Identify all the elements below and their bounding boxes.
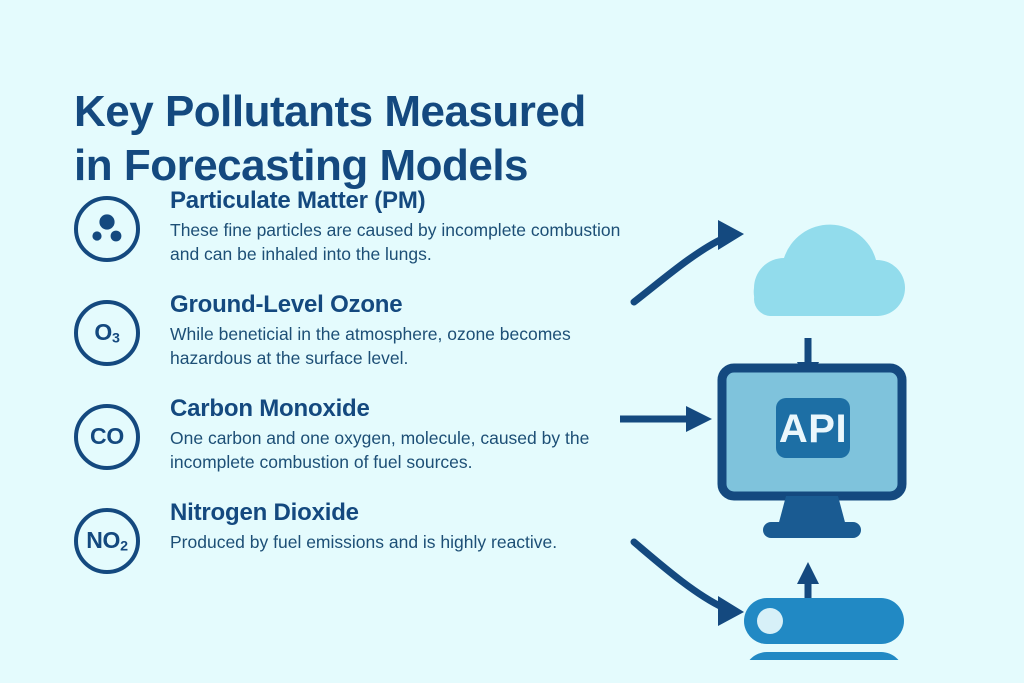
- curved-arrow-to-server: [634, 542, 744, 626]
- carbon-monoxide-formula-icon: CO: [74, 404, 140, 470]
- pollutant-title: Nitrogen Dioxide: [170, 500, 644, 526]
- pollutant-title: Carbon Monoxide: [170, 396, 644, 422]
- pollutant-description: These fine particles are caused by incom…: [170, 219, 640, 266]
- pollutant-list: Particulate Matter (PM) These fine parti…: [74, 188, 644, 586]
- particulate-dots-icon: [74, 196, 140, 262]
- pollutant-description: While beneticial in the atmosphere, ozon…: [170, 323, 640, 370]
- curved-arrow-to-cloud: [634, 220, 744, 302]
- list-item: Particulate Matter (PM) These fine parti…: [74, 188, 644, 274]
- pollutant-title: Particulate Matter (PM): [170, 188, 644, 214]
- pollutant-title: Ground-Level Ozone: [170, 292, 644, 318]
- system-flow-diagram: API: [620, 170, 1000, 660]
- nitrogen-dioxide-formula-icon: NO2: [74, 508, 140, 574]
- badge-subscript: 2: [120, 538, 128, 554]
- monitor-icon: API: [722, 368, 902, 538]
- badge-formula: O3: [94, 321, 119, 346]
- pollutant-description: Produced by fuel emissions and is highly…: [170, 531, 640, 554]
- badge-symbol: O: [94, 319, 112, 345]
- server-stack-icon: [744, 598, 904, 660]
- title-line-2: in Forecasting Models: [74, 139, 714, 193]
- page-title: Key Pollutants Measured in Forecasting M…: [74, 85, 714, 192]
- badge-symbol: CO: [90, 423, 124, 449]
- api-label: API: [779, 407, 847, 451]
- ozone-formula-icon: O3: [74, 300, 140, 366]
- badge-symbol: NO: [86, 527, 120, 553]
- badge-formula: CO: [90, 425, 124, 450]
- badge-formula: NO2: [86, 529, 128, 554]
- list-item: CO Carbon Monoxide One carbon and one ox…: [74, 396, 644, 482]
- pollutant-description: One carbon and one oxygen, molecule, cau…: [170, 427, 640, 474]
- title-line-1: Key Pollutants Measured: [74, 85, 714, 139]
- list-item: NO2 Nitrogen Dioxide Produced by fuel em…: [74, 500, 644, 586]
- infographic-canvas: Key Pollutants Measured in Forecasting M…: [0, 0, 1024, 683]
- straight-arrow-to-monitor: [620, 406, 712, 432]
- cloud-icon: [754, 225, 905, 316]
- badge-subscript: 3: [112, 330, 120, 346]
- list-item: O3 Ground-Level Ozone While beneticial i…: [74, 292, 644, 378]
